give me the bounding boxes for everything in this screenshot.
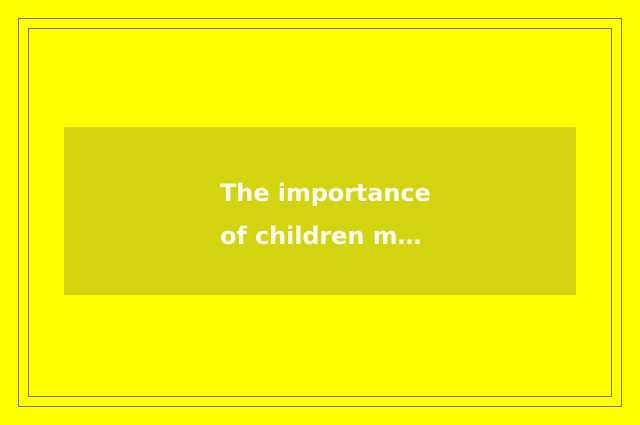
title-line-1: The importance [220,172,540,215]
title-text-block: The importance of children m… [220,172,540,258]
title-line-2: of children m… [220,215,540,258]
title-card: The importance of children m… [0,0,640,425]
